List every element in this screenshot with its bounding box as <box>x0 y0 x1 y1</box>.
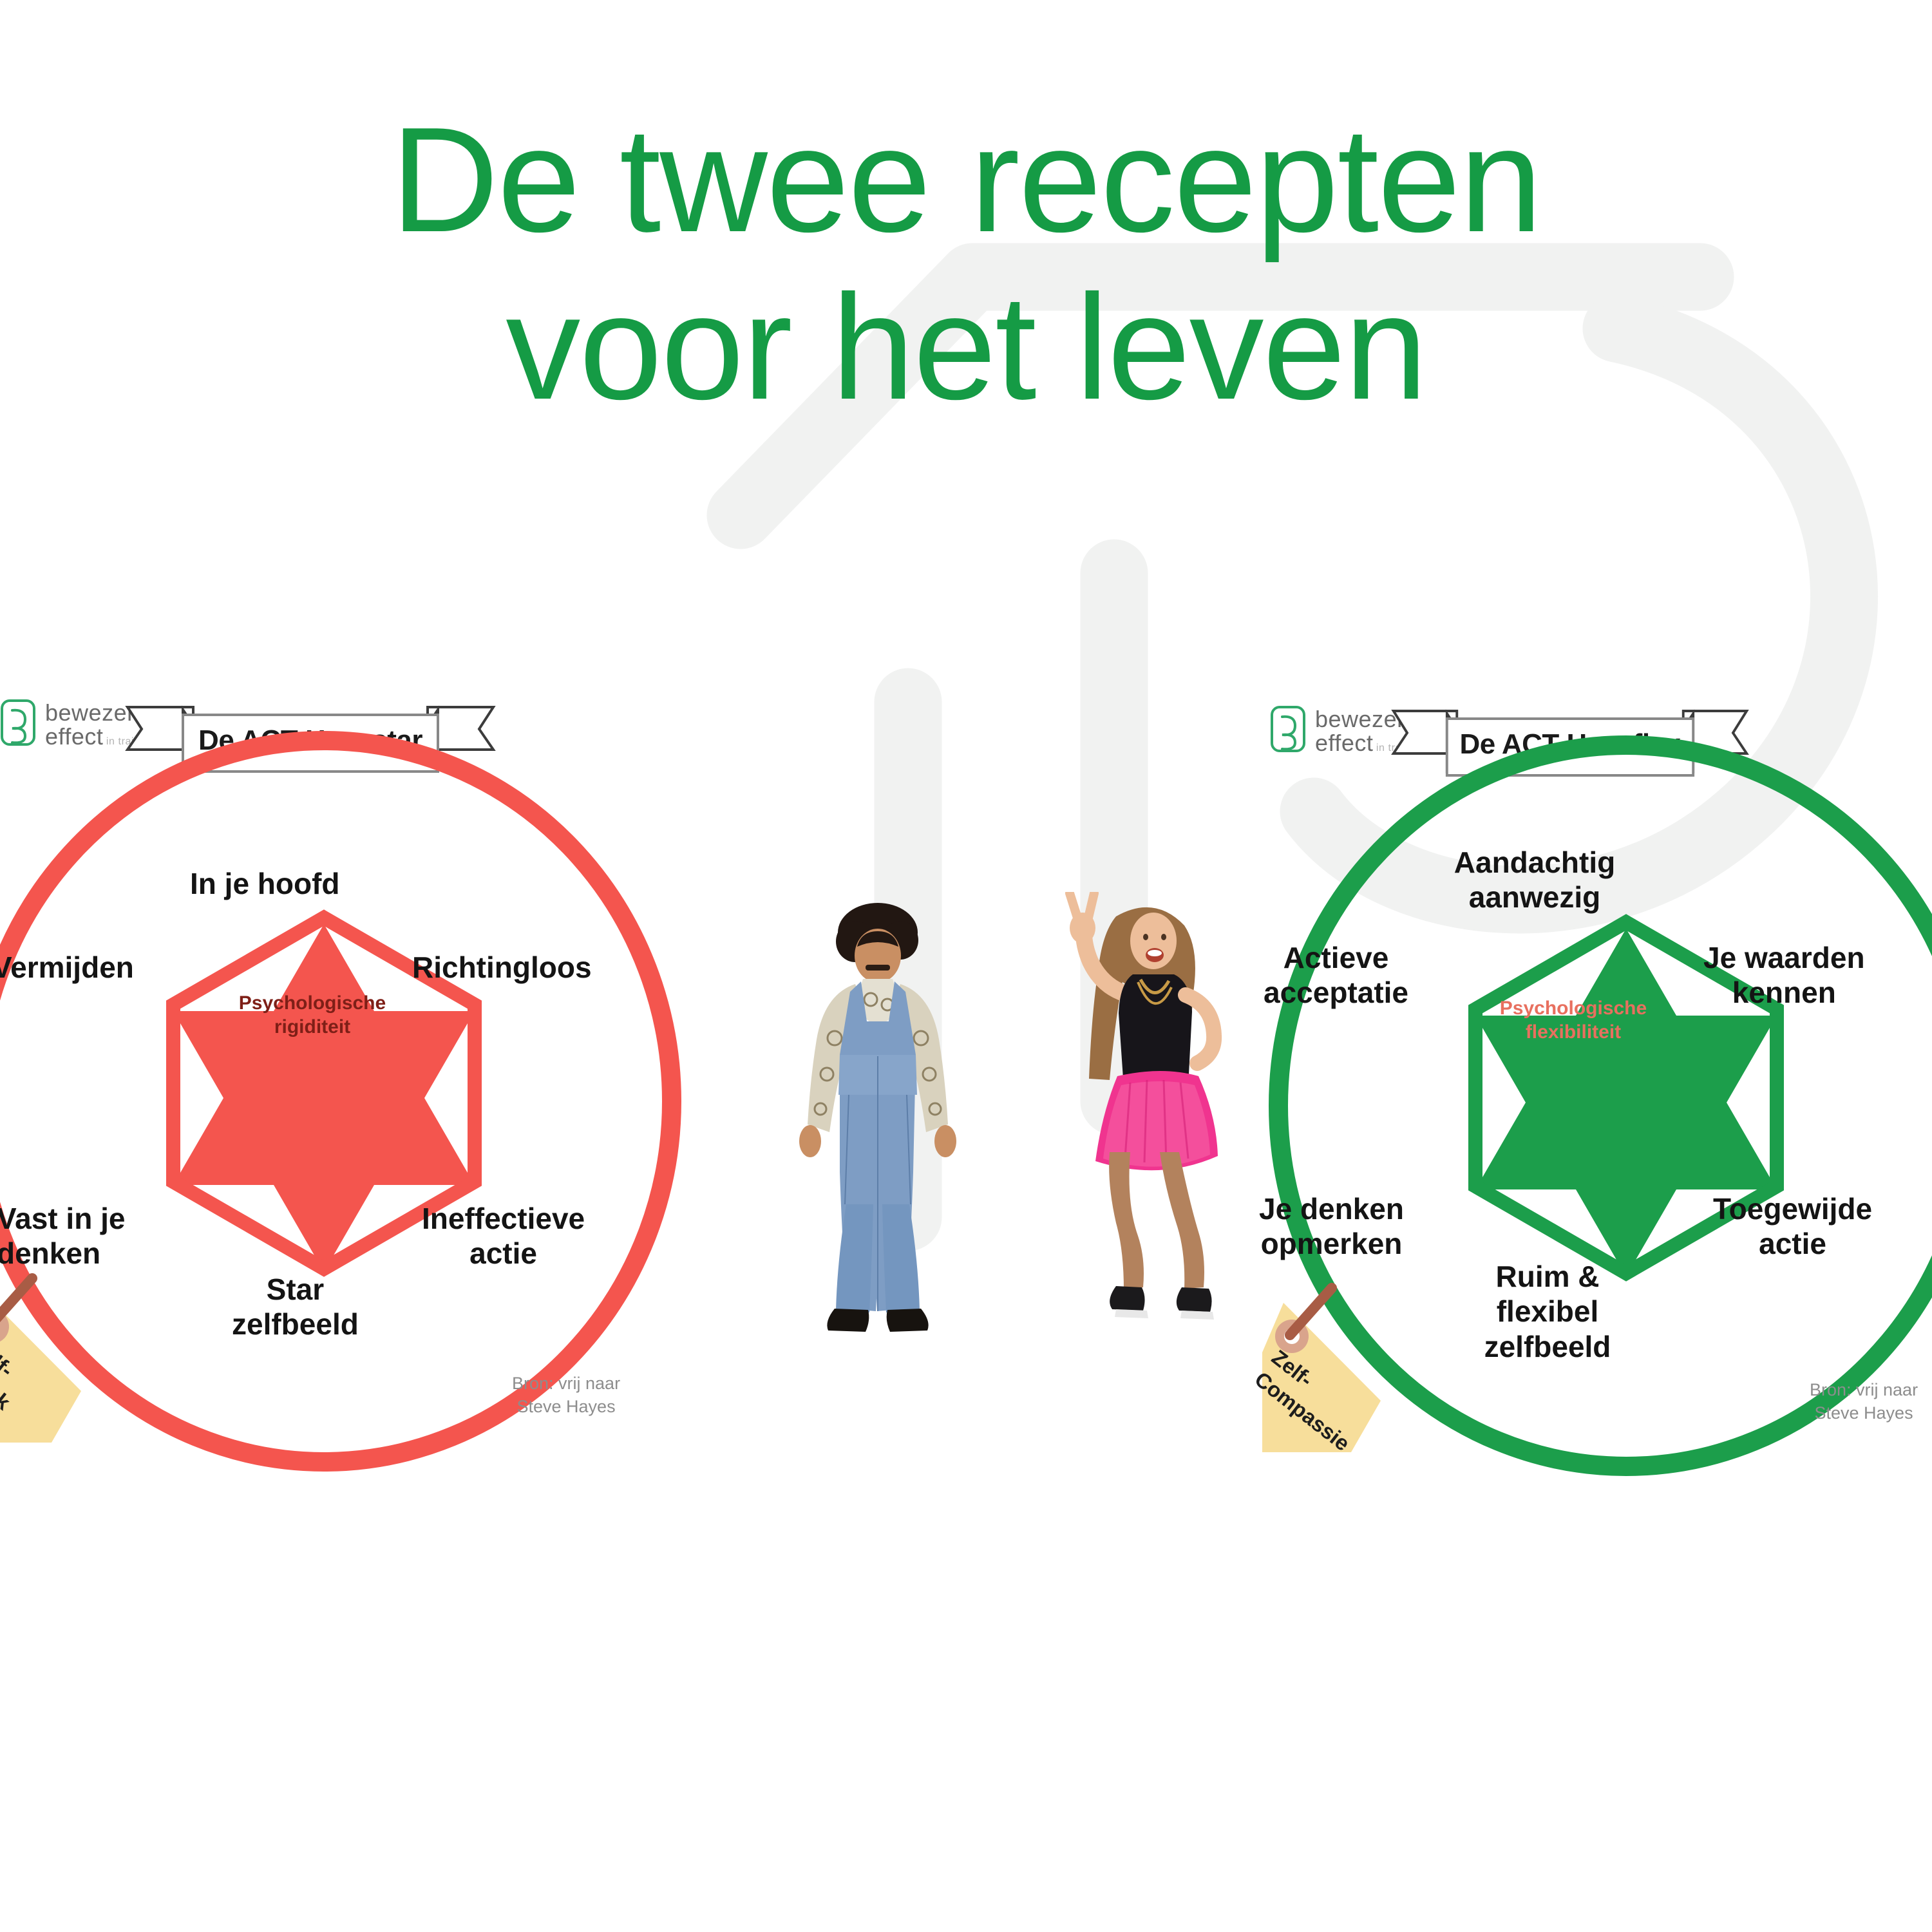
photo-woman-pink-tutu <box>1027 892 1253 1346</box>
node-richtingloos: Richtingloos <box>412 950 592 985</box>
node-actieve-acceptatie: Actieve acceptatie <box>1264 940 1408 1010</box>
diagram-hexaflex: bewezen effect in training en coaching D… <box>1224 676 1932 1513</box>
node-toegewijde-actie: Toegewijde actie <box>1713 1191 1872 1262</box>
hanging-tag-zelfcompassie: Zelf- Compassie <box>1255 1291 1419 1465</box>
node-ineffectieve-actie: Ineffectieve actie <box>422 1201 585 1271</box>
node-vast-in-je-denken: Vast in je denken <box>0 1201 125 1271</box>
node-aandachtig-aanwezig: Aandachtig aanwezig <box>1428 845 1641 915</box>
slide-canvas: De twee recepten voor het leven bewezen … <box>0 0 1932 1932</box>
core-label-flexibiliteit: Psychologische flexibiliteit <box>1467 997 1680 1044</box>
node-je-denken-opmerken: Je denken opmerken <box>1259 1191 1404 1262</box>
source-note-hexastar: Bron: vrij naar Steve Hayes <box>512 1372 620 1419</box>
node-ruim-flexibel-zelfbeeld: Ruim & flexibel zelfbeeld <box>1441 1259 1654 1364</box>
slide-title: De twee recepten voor het leven <box>0 97 1932 431</box>
hanging-tag-zelfkritiek: Zelf- kritiek <box>0 1282 119 1455</box>
node-je-waarden-kennen: Je waarden kennen <box>1703 940 1865 1010</box>
core-label-rigiditeit: Psychologische rigiditeit <box>206 992 419 1039</box>
source-note-hexaflex: Bron: vrij naar Steve Hayes <box>1810 1378 1918 1425</box>
photo-man-disco-costume <box>773 902 985 1352</box>
diagram-hexastar: bewezen effect in training en coaching D… <box>0 676 708 1513</box>
node-star-zelfbeeld: Star zelfbeeld <box>232 1272 359 1342</box>
node-vermijden: Vermijden <box>0 950 134 985</box>
node-in-je-hoofd: In je hoofd <box>190 866 340 901</box>
